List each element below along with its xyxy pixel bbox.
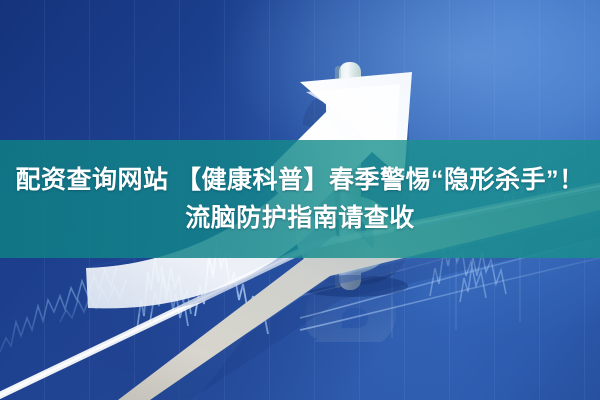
banner-image: 配资查询网站 【健康科普】春季警惕“隐形杀手”！流脑防护指南请查收: [0, 0, 600, 400]
banner-headline: 配资查询网站 【健康科普】春季警惕“隐形杀手”！流脑防护指南请查收: [0, 140, 600, 258]
